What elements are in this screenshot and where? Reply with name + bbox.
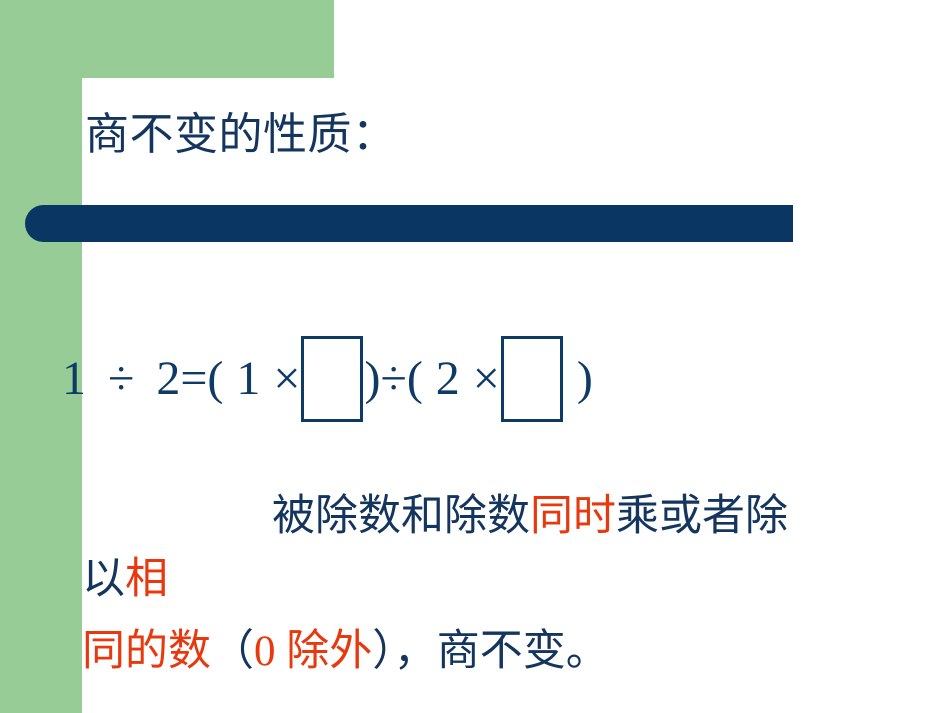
formula-group2-number: 2 [436, 355, 460, 403]
formula-equals-sign: = [180, 355, 207, 403]
formula-right-operand: 2 [156, 355, 180, 403]
line3-segment-orange-1: 同的数 [82, 628, 211, 675]
navy-divider-bar [25, 205, 793, 242]
answer-blank-box-1[interactable] [301, 336, 363, 422]
formula-divide-sign-1: ÷ [108, 355, 134, 403]
rule-text-line-2: 以相 [82, 558, 168, 601]
line3-segment-navy: ），商不变。 [372, 628, 609, 675]
rule-text-line-1: 被除数和除数同时乘或者除 [82, 495, 788, 538]
formula-open-paren-1: ( [207, 355, 223, 403]
line3-segment-orange-2: 0 除外 [254, 628, 372, 675]
slide-canvas: 商不变的性质： 1 ÷ 2 = ( 1 × ) ÷ ( 2 × ) 被除数和除数… [0, 0, 950, 713]
line2-segment-orange: 相 [125, 556, 168, 603]
formula-divide-sign-2: ÷ [380, 355, 406, 403]
formula-close-paren-2: ) [577, 355, 593, 403]
formula-close-paren-1: ) [364, 355, 380, 403]
formula-times-sign-2: × [473, 355, 500, 403]
formula-open-paren-2: ( [407, 355, 423, 403]
line1-segment-navy-1: 被除数和除数 [272, 493, 530, 540]
formula-group1-number: 1 [236, 355, 260, 403]
formula-times-sign-1: × [273, 355, 300, 403]
line1-segment-navy-2: 乘或者除 [616, 493, 788, 540]
line1-segment-orange: 同时 [530, 493, 616, 540]
line2-segment-navy: 以 [82, 556, 125, 603]
formula-expression: 1 ÷ 2 = ( 1 × ) ÷ ( 2 × ) [62, 336, 593, 422]
formula-left-operand: 1 [62, 355, 86, 403]
rule-text-line-3: 同的数（0 除外），商不变。 [82, 630, 609, 673]
answer-blank-box-2[interactable] [501, 336, 563, 422]
line3-open-paren: （ [211, 628, 254, 675]
page-title: 商不变的性质： [85, 112, 397, 158]
